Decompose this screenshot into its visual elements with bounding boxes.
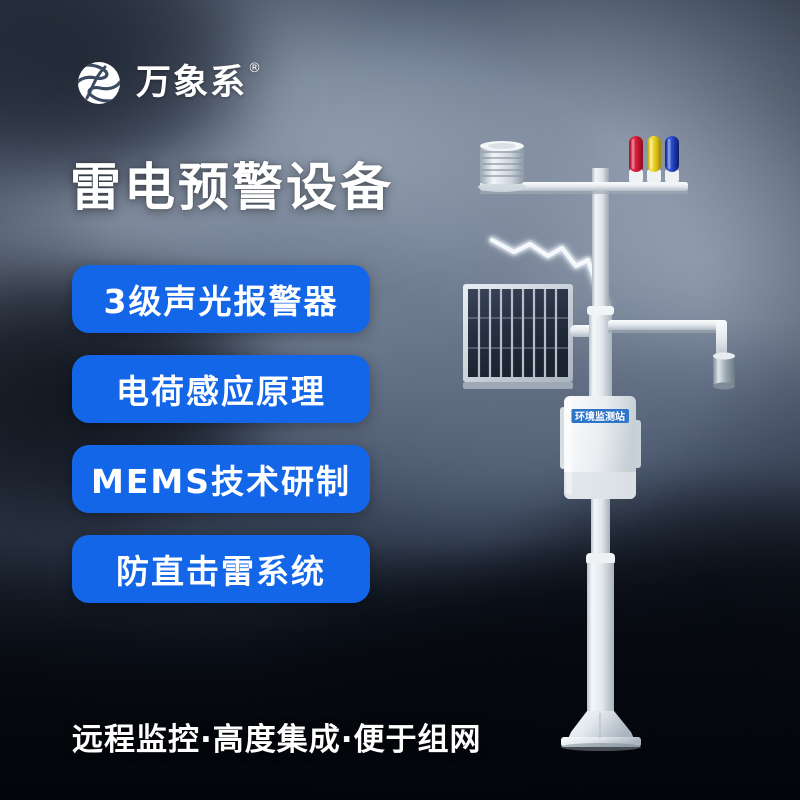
feature-pill-2[interactable]: 电荷感应原理 bbox=[72, 355, 370, 423]
environment-monitor-enclosure: 环境监测站 bbox=[560, 396, 641, 499]
solar-panel bbox=[463, 284, 596, 389]
cylindrical-sensor-arm bbox=[608, 320, 735, 390]
page-title: 雷电预警设备 bbox=[70, 160, 394, 217]
feature-pill-1[interactable]: 3级声光报警器 bbox=[72, 265, 370, 333]
enclosure-label-text: 环境监测站 bbox=[575, 410, 625, 423]
feature-pill-list: 3级声光报警器 电荷感应原理 MEMS技术研制 防直击雷系统 bbox=[72, 265, 370, 603]
product-illustration: 环境监测站 bbox=[430, 120, 770, 780]
swirl-globe-logo-icon bbox=[74, 58, 124, 108]
feature-pill-4[interactable]: 防直击雷系统 bbox=[72, 535, 370, 603]
flange-base-plate bbox=[561, 711, 641, 751]
louvered-radiation-shield-sensor bbox=[478, 141, 526, 192]
red-alarm-light bbox=[629, 136, 643, 183]
tagline: 远程监控·高度集成·便于组网 bbox=[72, 714, 482, 759]
brand-name: 万象系® bbox=[136, 66, 247, 101]
blue-alarm-light bbox=[665, 136, 679, 183]
yellow-alarm-light bbox=[647, 136, 661, 183]
brand-lockup: 万象系® bbox=[74, 58, 247, 108]
poster-canvas: 万象系® 雷电预警设备 3级声光报警器 电荷感应原理 MEMS技术研制 防直击雷… bbox=[0, 0, 800, 800]
registered-trademark-mark: ® bbox=[248, 62, 263, 75]
feature-pill-3[interactable]: MEMS技术研制 bbox=[72, 445, 370, 513]
